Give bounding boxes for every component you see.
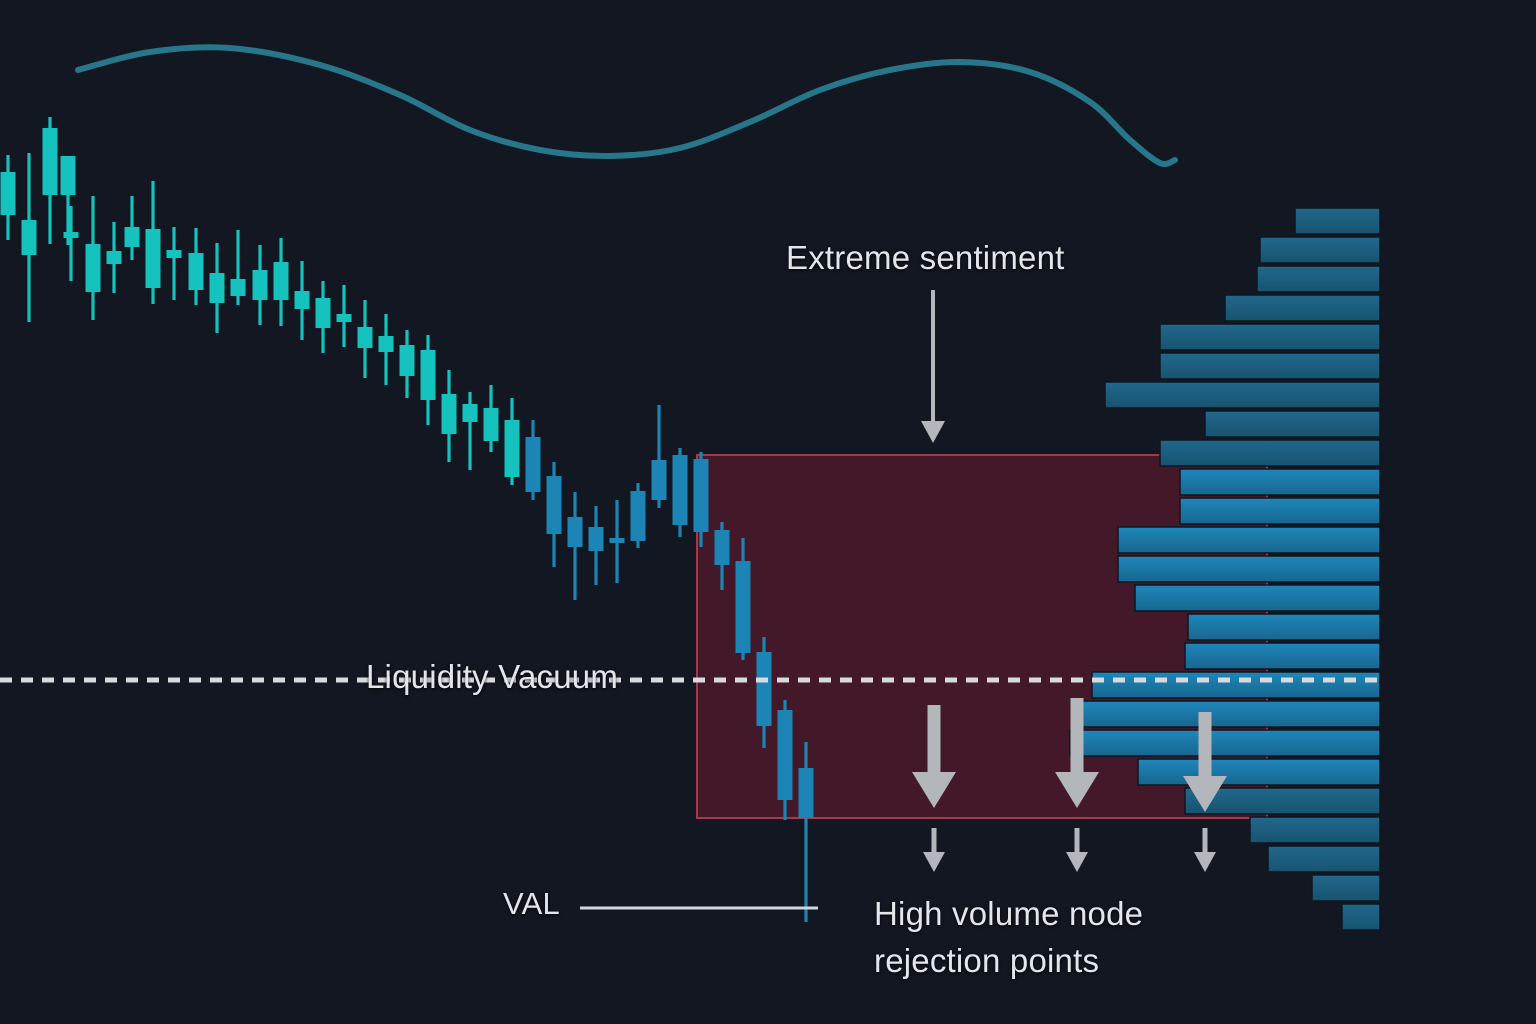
candlestick — [146, 181, 161, 304]
volume-bar — [1225, 295, 1380, 321]
candlestick — [253, 245, 268, 325]
candlestick — [22, 153, 37, 322]
candlestick-series — [1, 117, 688, 600]
candlestick — [379, 314, 394, 385]
candlestick — [799, 742, 814, 922]
candlestick — [43, 117, 58, 244]
candlestick — [107, 222, 122, 293]
volume-bar — [1180, 498, 1380, 524]
volume-bar — [1295, 208, 1380, 234]
chart-svg — [0, 0, 1536, 1024]
volume-bar — [1118, 556, 1380, 582]
volume-bar — [1312, 875, 1380, 901]
hvn-line-1: High volume node — [874, 895, 1143, 932]
candlestick — [631, 483, 646, 548]
volume-bar — [1105, 382, 1380, 408]
candlestick — [210, 243, 225, 333]
volume-bar — [1080, 701, 1380, 727]
volume-bar — [1070, 730, 1380, 756]
arrow-rejection-thin-1 — [923, 828, 945, 872]
volume-bar — [1342, 904, 1380, 930]
candlestick — [442, 370, 457, 462]
volume-bar — [1092, 672, 1380, 698]
candlestick — [61, 156, 76, 245]
label-extreme-sentiment: Extreme sentiment — [786, 239, 1065, 277]
volume-bar — [1160, 353, 1380, 379]
candlestick — [167, 227, 182, 300]
candlestick — [526, 420, 541, 500]
candlestick — [64, 206, 79, 281]
volume-bar — [1180, 469, 1380, 495]
candlestick — [358, 300, 373, 378]
candlestick — [231, 230, 246, 305]
volume-bar — [1118, 527, 1380, 553]
hvn-line-2: rejection points — [874, 942, 1099, 979]
candlestick — [610, 500, 625, 583]
volume-bar — [1185, 643, 1380, 669]
candlestick — [673, 448, 688, 537]
candlestick — [274, 238, 289, 326]
arrow-rejection-thin-2 — [1066, 828, 1088, 872]
volume-bar — [1138, 759, 1380, 785]
volume-bar — [1135, 585, 1380, 611]
volume-bar — [1160, 440, 1380, 466]
chart-canvas: Extreme sentiment Liquidity Vacuum VAL H… — [0, 0, 1536, 1024]
candlestick — [125, 196, 140, 260]
arrow-rejection-thin-3 — [1194, 828, 1216, 872]
candlestick — [337, 285, 352, 347]
volume-bar — [1188, 614, 1380, 640]
volume-bar — [1205, 411, 1380, 437]
candlestick — [652, 405, 667, 508]
candlestick — [505, 398, 520, 485]
volume-bar — [1160, 324, 1380, 350]
label-high-volume-node: High volume node rejection points — [874, 890, 1204, 984]
volume-bar — [1268, 846, 1380, 872]
label-val: VAL — [503, 886, 560, 922]
candlestick — [400, 330, 415, 398]
candlestick — [547, 462, 562, 567]
volume-bar — [1257, 266, 1380, 292]
label-liquidity-vacuum: Liquidity Vacuum — [366, 658, 618, 696]
candlestick — [295, 261, 310, 340]
candlestick — [421, 335, 436, 425]
candlestick — [189, 228, 204, 305]
candlestick — [484, 385, 499, 452]
arrow-extreme-sentiment — [921, 290, 945, 443]
volume-bar — [1250, 817, 1380, 843]
candlestick — [86, 196, 101, 320]
candlestick — [1, 155, 16, 240]
candlestick — [589, 506, 604, 585]
volume-bar — [1260, 237, 1380, 263]
candlestick — [568, 492, 583, 600]
sentiment-wave — [78, 47, 1175, 164]
candlestick — [463, 392, 478, 470]
candlestick — [316, 281, 331, 353]
